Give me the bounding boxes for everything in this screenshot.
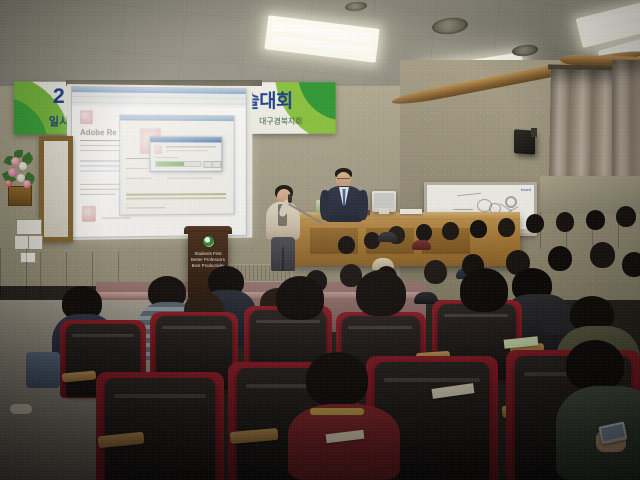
flower-pink-3	[23, 180, 31, 188]
audience-head-far-8	[526, 214, 544, 233]
conference-hall-photo: 2 일시 술대회 대구경북지회 Adobe Re	[0, 0, 640, 480]
flower-white-1	[19, 162, 27, 170]
adobe-pdf-icon	[82, 206, 96, 222]
audience-head-mid-9	[622, 252, 640, 277]
audience-front-head-2	[348, 270, 422, 328]
microphone[interactable]	[288, 194, 292, 203]
dialog-cancel-button[interactable]	[212, 161, 221, 168]
presenter-man	[318, 168, 370, 220]
audience-head-far-11	[616, 206, 636, 227]
front-head-1-hair	[276, 276, 324, 320]
man-arm-left	[320, 190, 330, 220]
whiteboard-line-2	[453, 209, 473, 210]
screen-dialog-titlebar	[150, 137, 221, 142]
audience-cap-dark	[378, 232, 397, 242]
whiteboard-brand-tag: board	[521, 187, 531, 192]
whiteboard-line-1	[457, 193, 481, 197]
dialog-warning-icon	[154, 145, 162, 154]
front-head-3-hair	[460, 268, 508, 312]
audience-head-far-10	[586, 210, 605, 230]
flower-pink-2	[8, 168, 17, 177]
audience-shoe-left	[10, 404, 32, 414]
monitor-stand	[379, 208, 389, 214]
whiteboard-sketch-3	[505, 196, 517, 208]
audience-head-far-4	[416, 224, 432, 241]
audience-head-mid-4	[424, 260, 447, 284]
smartphone-screen	[601, 424, 625, 441]
desk-handout	[400, 209, 422, 214]
audience-front-head-3	[452, 268, 524, 326]
audience-near-man-red	[288, 352, 408, 480]
monitor-screen	[374, 193, 394, 208]
adobe-reader-icon	[80, 110, 93, 124]
wall-control-panel[interactable]	[16, 219, 42, 235]
near-olive-hair	[566, 340, 624, 390]
wreath-basket	[8, 186, 32, 206]
wall-framed-panel	[39, 136, 73, 242]
audience-head-far-5	[442, 222, 459, 240]
wall-speaker-bracket	[531, 128, 537, 137]
adobe-reader-label: Adobe Re	[80, 128, 117, 137]
audience-front-head-1	[268, 276, 340, 332]
audience-head-far-7	[498, 218, 515, 237]
near-red-hair	[306, 352, 368, 406]
near-red-body	[288, 404, 400, 480]
man-arm-right	[358, 190, 368, 220]
flower-wreath	[2, 148, 36, 208]
screen-progress-dialog[interactable]	[150, 136, 223, 172]
banner-chapter-text: 대구경북지회	[259, 116, 302, 127]
seat-post-row1-a	[110, 448, 122, 480]
podium-emblem	[203, 236, 214, 247]
near-red-collar	[310, 408, 364, 415]
projection-screen: Adobe Re	[67, 84, 252, 240]
front-head-2-hair	[356, 270, 406, 316]
banner-year-text: 2	[53, 85, 64, 109]
audience-head-far-9	[556, 212, 574, 232]
audience-head-mid-8	[590, 242, 615, 268]
audience-near-man-olive-right	[556, 340, 640, 480]
audience-jeans-left	[26, 352, 60, 388]
woman-trouser-split	[282, 247, 284, 271]
man-glasses	[337, 178, 350, 182]
flower-red-1	[5, 180, 12, 187]
dialog-progress-bar	[155, 161, 201, 167]
window-curtain-far	[612, 60, 640, 180]
audience-head-far-6	[470, 220, 487, 238]
